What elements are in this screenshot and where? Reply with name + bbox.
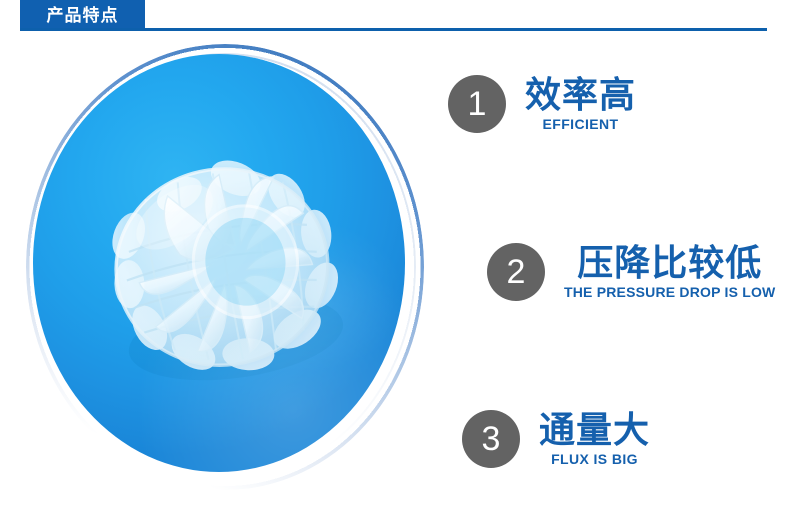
product-photo [33,54,405,472]
feature-title: 压降比较低 [577,244,762,283]
section-header: 产品特点 [0,0,790,32]
feature-text-block: 通量大 FLUX IS BIG [539,411,650,468]
section-title-tab: 产品特点 [20,0,145,30]
polyhedral-hollow-ball-icon [68,114,369,407]
header-divider-rule [20,28,767,31]
feature-list: 1 效率高 EFFICIENT 2 压降比较低 THE PRESSURE DRO… [440,36,790,502]
feature-item-pressure-drop: 2 压降比较低 THE PRESSURE DROP IS LOW [487,243,775,301]
feature-number-badge: 2 [487,243,545,301]
feature-item-efficient: 1 效率高 EFFICIENT [448,75,636,133]
feature-subtitle: THE PRESSURE DROP IS LOW [564,284,775,300]
feature-item-flux: 3 通量大 FLUX IS BIG [462,410,650,468]
feature-text-block: 效率高 EFFICIENT [525,76,636,133]
feature-number-badge: 1 [448,75,506,133]
page-title: 产品特点 [47,7,119,24]
feature-number-badge: 3 [462,410,520,468]
feature-text-block: 压降比较低 THE PRESSURE DROP IS LOW [564,244,775,301]
product-features-page: 产品特点 [0,0,790,506]
product-image-panel [18,36,438,502]
feature-subtitle: EFFICIENT [543,116,619,132]
feature-title: 通量大 [539,411,650,450]
feature-title: 效率高 [525,76,636,115]
watermark-overlay [197,221,405,371]
feature-subtitle: FLUX IS BIG [551,451,638,467]
